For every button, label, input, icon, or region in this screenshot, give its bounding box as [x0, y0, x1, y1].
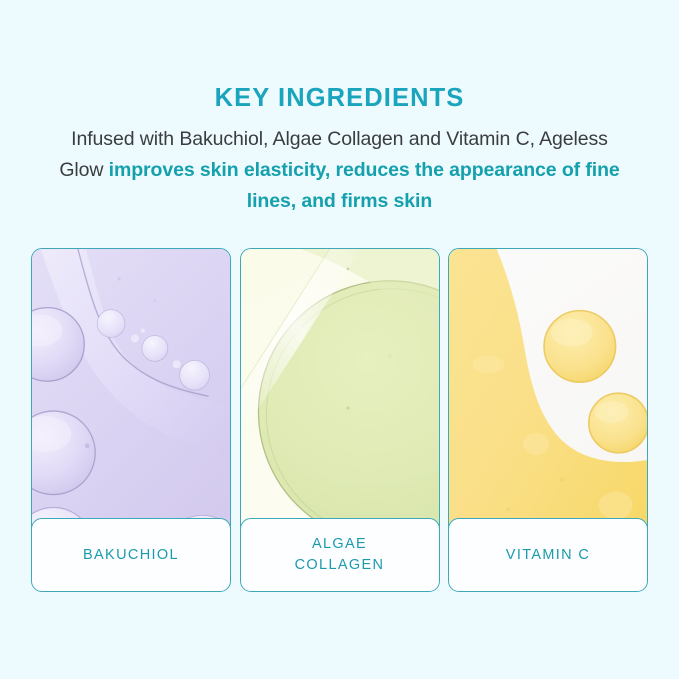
card-label-plate-vitamin-c: VITAMIN C — [448, 518, 648, 592]
ingredient-card-bakuchiol[interactable]: BAKUCHIOL — [31, 248, 231, 592]
card-label-bakuchiol: BAKUCHIOL — [83, 545, 179, 566]
card-label-algae-collagen: ALGAE COLLAGEN — [295, 534, 385, 576]
ingredient-card-row: BAKUCHIOL — [31, 248, 648, 592]
key-ingredients-panel: KEY INGREDIENTS Infused with Bakuchiol, … — [0, 0, 679, 679]
intro-highlight-text: improves skin elasticity, reduces the ap… — [109, 159, 620, 212]
card-label-plate-algae-collagen: ALGAE COLLAGEN — [240, 518, 440, 592]
card-label-plate-bakuchiol: BAKUCHIOL — [31, 518, 231, 592]
card-label-vitamin-c: VITAMIN C — [506, 545, 590, 566]
ingredient-card-algae-collagen[interactable]: ALGAE COLLAGEN — [240, 248, 440, 592]
ingredient-card-vitamin-c[interactable]: VITAMIN C — [448, 248, 648, 592]
intro-paragraph: Infused with Bakuchiol, Algae Collagen a… — [50, 124, 629, 217]
page-title: KEY INGREDIENTS — [0, 84, 679, 112]
